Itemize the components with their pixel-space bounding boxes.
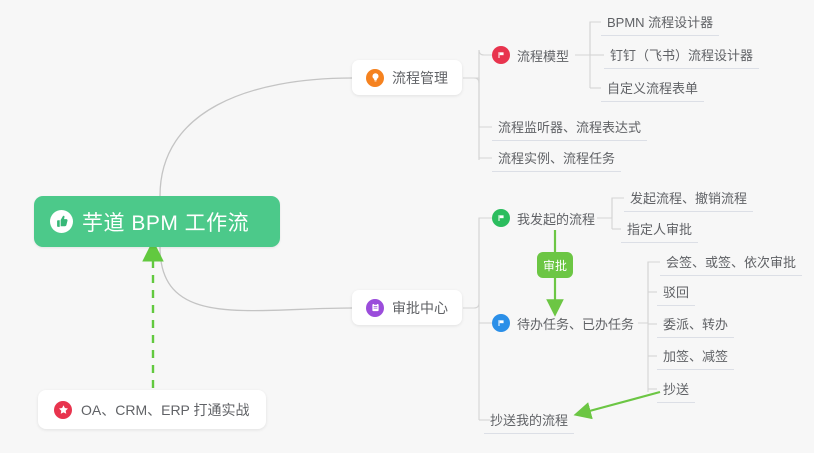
leaf-reject[interactable]: 驳回 xyxy=(657,281,695,306)
link-model-to-bpmn xyxy=(575,22,601,55)
node-label: 流程模型 xyxy=(517,46,569,65)
leaf-custom-form[interactable]: 自定义流程表单 xyxy=(601,77,704,102)
leaf-assignee-approval[interactable]: 指定人审批 xyxy=(621,218,698,243)
flag-icon xyxy=(492,314,510,332)
branch-approval-center[interactable]: 审批中心 xyxy=(352,290,462,325)
root-node[interactable]: 芋道 BPM 工作流 xyxy=(34,196,280,247)
leaf-instance-task[interactable]: 流程实例、流程任务 xyxy=(492,147,621,172)
star-icon xyxy=(54,401,72,419)
node-label: 我发起的流程 xyxy=(517,209,595,228)
node-process-model[interactable]: 流程模型 xyxy=(492,43,571,67)
approval-annotation-pill: 审批 xyxy=(537,252,573,278)
branch-label: 流程管理 xyxy=(392,68,448,88)
callout-label: OA、CRM、ERP 打通实战 xyxy=(81,400,250,420)
leaf-dingtalk-designer[interactable]: 钉钉（飞书）流程设计器 xyxy=(604,44,759,69)
leaf-countersign[interactable]: 会签、或签、依次审批 xyxy=(660,251,802,276)
leaf-cc-my-processes[interactable]: 抄送我的流程 xyxy=(484,409,574,434)
link-pm-to-model xyxy=(463,50,492,83)
link-ac-to-started xyxy=(463,218,492,308)
node-my-started-processes[interactable]: 我发起的流程 xyxy=(492,206,597,230)
node-label: 待办任务、已办任务 xyxy=(517,314,634,333)
link-started-to-launch xyxy=(597,198,624,218)
branch-process-management[interactable]: 流程管理 xyxy=(352,60,462,95)
node-todo-done-tasks[interactable]: 待办任务、已办任务 xyxy=(492,311,636,335)
leaf-launch-cancel[interactable]: 发起流程、撤销流程 xyxy=(624,187,753,212)
thumbs-up-icon xyxy=(50,210,73,233)
link-pm-to-listener xyxy=(463,78,492,127)
mindmap-canvas: 芋道 BPM 工作流 流程管理 流程模型 BPMN 流程设计器 钉钉（飞书）流程… xyxy=(0,0,814,453)
link-pm-to-instance xyxy=(479,78,492,158)
approval-annotation-label: 审批 xyxy=(543,257,567,274)
leaf-add-remove-sign[interactable]: 加签、减签 xyxy=(657,345,734,370)
leaf-listener-expression[interactable]: 流程监听器、流程表达式 xyxy=(492,116,647,141)
lightbulb-icon xyxy=(366,69,384,87)
leaf-bpmn-designer[interactable]: BPMN 流程设计器 xyxy=(601,11,719,36)
clipboard-icon xyxy=(366,299,384,317)
callout-integration[interactable]: OA、CRM、ERP 打通实战 xyxy=(38,390,266,429)
root-label: 芋道 BPM 工作流 xyxy=(82,207,249,237)
link-root-to-approval-center xyxy=(160,247,352,311)
leaf-carbon-copy[interactable]: 抄送 xyxy=(657,378,695,403)
link-root-to-process-management xyxy=(160,78,352,196)
cc-arrow xyxy=(582,392,660,413)
flag-icon xyxy=(492,209,510,227)
flag-icon xyxy=(492,46,510,64)
branch-label: 审批中心 xyxy=(392,298,448,318)
leaf-delegate-transfer[interactable]: 委派、转办 xyxy=(657,313,734,338)
